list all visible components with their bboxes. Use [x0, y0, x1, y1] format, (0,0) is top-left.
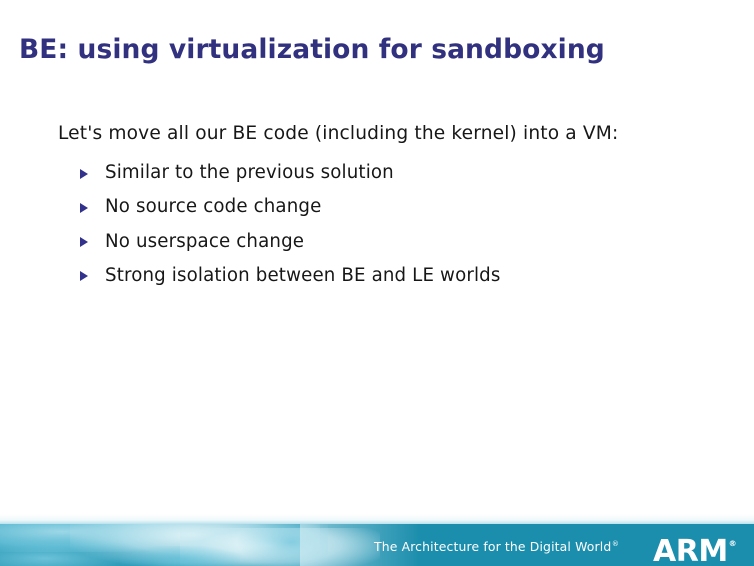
list-item-label: No source code change — [105, 196, 321, 217]
list-item: No source code change — [58, 196, 718, 219]
slide-title: BE: using virtualization for sandboxing — [19, 35, 605, 64]
footer-decoration-shape — [0, 524, 200, 552]
footer-decoration-shape — [180, 528, 380, 566]
footer-tagline-text: The Architecture for the Digital World — [374, 539, 611, 554]
arm-logo: ARM® — [653, 529, 736, 566]
footer-tagline: The Architecture for the Digital World® — [374, 539, 619, 554]
triangle-right-icon — [80, 271, 88, 281]
list-item: Similar to the previous solution — [58, 162, 718, 185]
list-item: No userspace change — [58, 231, 718, 254]
footer-decoration-shape — [70, 524, 320, 566]
bullet-list: Similar to the previous solution No sour… — [58, 162, 718, 288]
triangle-right-icon — [80, 169, 88, 179]
arm-logo-text: ARM — [653, 534, 728, 566]
registered-trademark-icon: ® — [729, 539, 737, 548]
slide-body: Let's move all our BE code (including th… — [58, 104, 718, 299]
presentation-slide: BE: using virtualization for sandboxing … — [0, 0, 754, 566]
list-item-label: Strong isolation between BE and LE world… — [105, 265, 501, 286]
footer-decoration-shape — [238, 524, 328, 566]
footer-decoration-shape — [120, 546, 240, 566]
list-item: Strong isolation between BE and LE world… — [58, 265, 718, 288]
registered-trademark-icon: ® — [612, 540, 619, 548]
triangle-right-icon — [80, 237, 88, 247]
triangle-right-icon — [80, 203, 88, 213]
lead-paragraph: Let's move all our BE code (including th… — [58, 123, 718, 144]
footer-fade-strip — [0, 514, 754, 524]
list-item-label: No userspace change — [105, 231, 304, 252]
footer-decoration-shape — [0, 538, 150, 566]
list-item-label: Similar to the previous solution — [105, 162, 394, 183]
